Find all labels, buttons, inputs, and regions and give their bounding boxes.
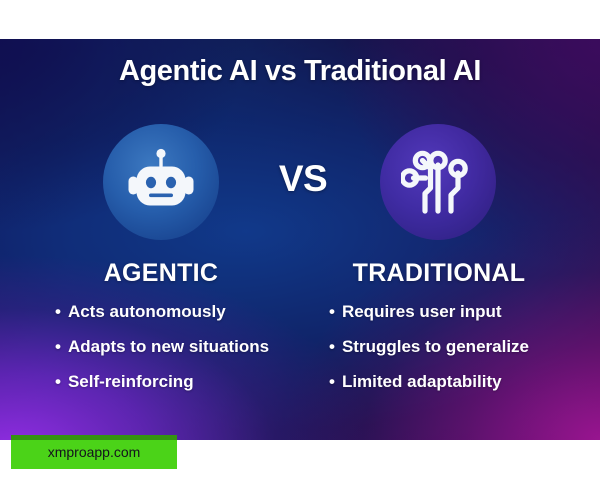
list-item-label: Acts autonomously [68,303,226,320]
bullet-dot-icon: • [55,303,61,320]
circuit-nodes-icon [401,143,475,222]
bullet-dot-icon: • [329,373,335,390]
list-item-label: Adapts to new situations [68,338,269,355]
watermark-top-shadow [11,435,177,440]
heading-agentic: AGENTIC [22,261,300,286]
list-item: • Adapts to new situations [55,338,315,355]
infographic-canvas: Agentic AI vs Traditional AI VS [0,0,600,480]
list-item-label: Self-reinforcing [68,373,194,390]
bullet-dot-icon: • [329,303,335,320]
watermark-badge[interactable]: xmproapp.com [11,435,177,469]
agentic-icon-circle [103,124,219,240]
list-item-label: Limited adaptability [342,373,502,390]
bullet-dot-icon: • [55,373,61,390]
list-item: • Limited adaptability [329,373,579,390]
traditional-icon-circle [380,124,496,240]
watermark-label: xmproapp.com [48,445,141,459]
vs-label: VS [248,160,358,197]
list-item: • Requires user input [329,303,579,320]
heading-traditional: TRADITIONAL [300,261,578,286]
agentic-bullet-list: • Acts autonomously • Adapts to new situ… [55,303,315,408]
list-item: • Self-reinforcing [55,373,315,390]
traditional-bullet-list: • Requires user input • Struggles to gen… [329,303,579,408]
list-item: • Struggles to generalize [329,338,579,355]
bullet-dot-icon: • [329,338,335,355]
list-item-label: Struggles to generalize [342,338,529,355]
page-title: Agentic AI vs Traditional AI [0,57,600,86]
robot-icon [124,143,198,222]
bullet-dot-icon: • [55,338,61,355]
list-item-label: Requires user input [342,303,502,320]
list-item: • Acts autonomously [55,303,315,320]
